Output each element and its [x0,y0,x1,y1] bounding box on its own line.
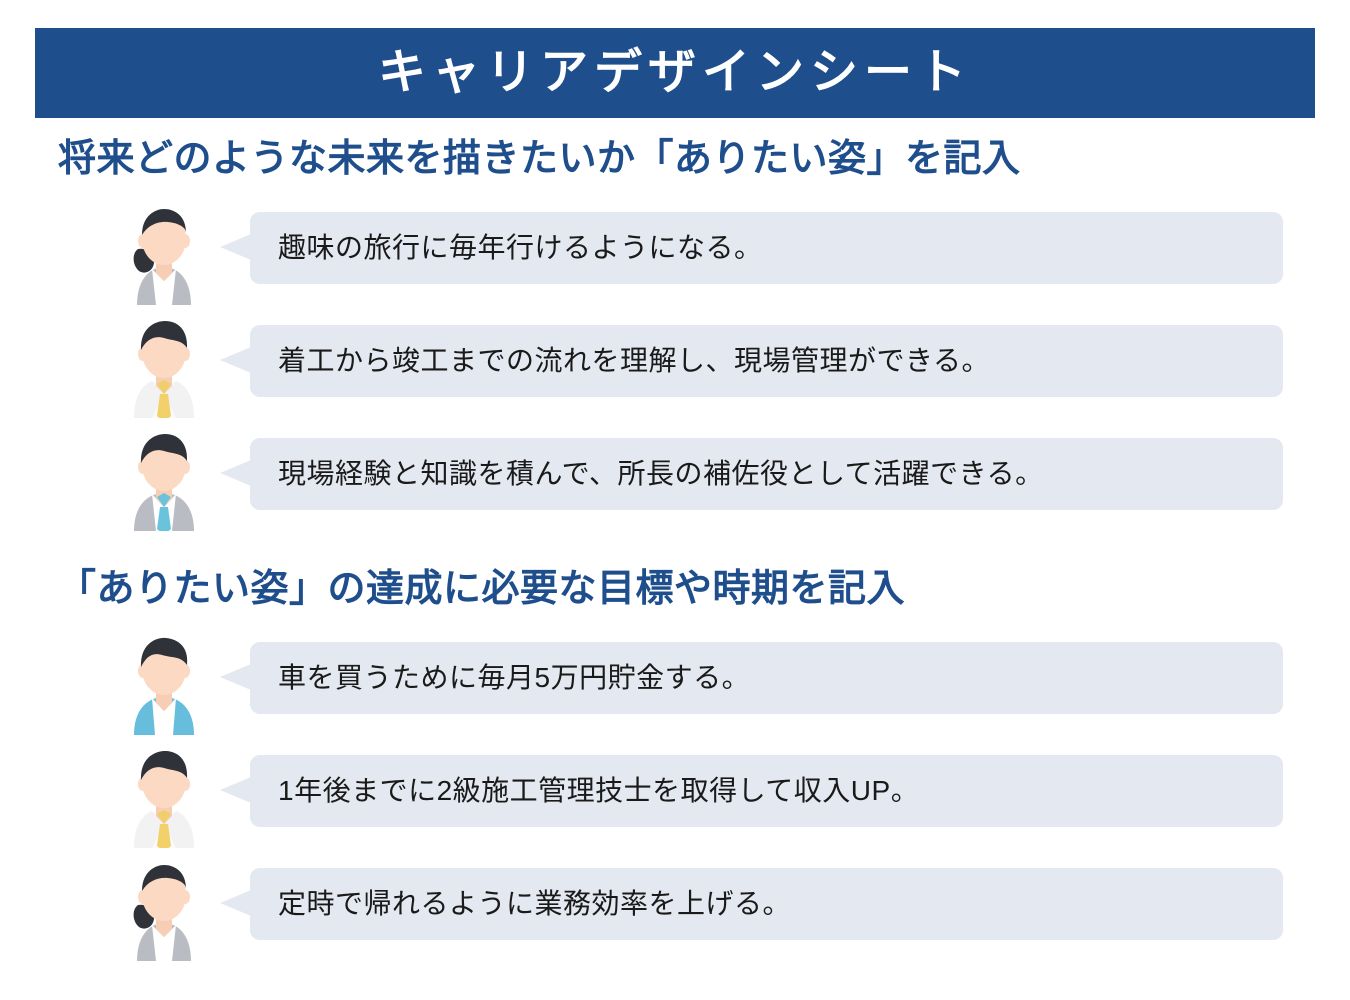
bubble-tail-icon [220,234,251,260]
avatar-person-teal-jacket-icon [112,631,216,735]
list-item: 車を買うために毎月5万円貯金する。 [0,622,1350,735]
bubble-tail-icon [220,664,251,690]
bubble-tail-icon [220,347,251,373]
bubble-body: 趣味の旅行に毎年行けるようになる。 [250,212,1283,284]
section-goals: 「ありたい姿」の達成に必要な目標や時期を記入 [0,566,1350,961]
speech-bubble: 趣味の旅行に毎年行けるようになる。 [220,212,1283,284]
avatar-man-white-shirt-yellow-tie-icon [112,314,216,418]
list-item: 着工から竣工までの流れを理解し、現場管理ができる。 [0,305,1350,418]
bubble-body: 現場経験と知識を積んで、所長の補佐役として活躍できる。 [250,438,1283,510]
bubble-tail-icon [220,777,251,803]
page-title: キャリアデザインシート [378,49,972,97]
avatar-woman-ponytail-grey-blazer-icon [112,201,216,305]
bubble-tail-icon [220,890,251,916]
bubble-text: 1年後までに2級施工管理技士を取得して収入UP。 [278,774,919,808]
bubble-body: 車を買うために毎月5万円貯金する。 [250,642,1283,714]
bubble-text: 現場経験と知識を積んで、所長の補佐役として活躍できる。 [278,457,1044,491]
section-heading-2: 「ありたい姿」の達成に必要な目標や時期を記入 [58,566,1350,614]
bubble-text: 趣味の旅行に毎年行けるようになる。 [278,231,763,265]
list-item: 現場経験と知識を積んで、所長の補佐役として活躍できる。 [0,418,1350,531]
row-list-2: 車を買うために毎月5万円貯金する。 [0,622,1350,961]
bubble-body: 定時で帰れるように業務効率を上げる。 [250,868,1283,940]
section-future-vision: 将来どのような未来を描きたいか「ありたい姿」を記入 [0,136,1350,531]
speech-bubble: 現場経験と知識を積んで、所長の補佐役として活躍できる。 [220,438,1283,510]
bubble-body: 1年後までに2級施工管理技士を取得して収入UP。 [250,755,1283,827]
bubble-text: 定時で帰れるように業務効率を上げる。 [278,887,791,921]
avatar-man-white-shirt-yellow-tie-icon [112,744,216,848]
title-banner: キャリアデザインシート [35,28,1315,118]
speech-bubble: 車を買うために毎月5万円貯金する。 [220,642,1283,714]
avatar-man-grey-suit-blue-tie-icon [112,427,216,531]
section-heading-1: 将来どのような未来を描きたいか「ありたい姿」を記入 [58,136,1350,184]
list-item: 1年後までに2級施工管理技士を取得して収入UP。 [0,735,1350,848]
speech-bubble: 着工から竣工までの流れを理解し、現場管理ができる。 [220,325,1283,397]
bubble-text: 車を買うために毎月5万円貯金する。 [278,661,750,695]
list-item: 定時で帰れるように業務効率を上げる。 [0,848,1350,961]
career-design-sheet: キャリアデザインシート 将来どのような未来を描きたいか「ありたい姿」を記入 [0,0,1350,1000]
speech-bubble: 1年後までに2級施工管理技士を取得して収入UP。 [220,755,1283,827]
speech-bubble: 定時で帰れるように業務効率を上げる。 [220,868,1283,940]
bubble-tail-icon [220,460,251,486]
list-item: 趣味の旅行に毎年行けるようになる。 [0,192,1350,305]
bubble-text: 着工から竣工までの流れを理解し、現場管理ができる。 [278,344,990,378]
row-list-1: 趣味の旅行に毎年行けるようになる。 [0,192,1350,531]
avatar-woman-ponytail-grey-blazer-icon [112,857,216,961]
bubble-body: 着工から竣工までの流れを理解し、現場管理ができる。 [250,325,1283,397]
